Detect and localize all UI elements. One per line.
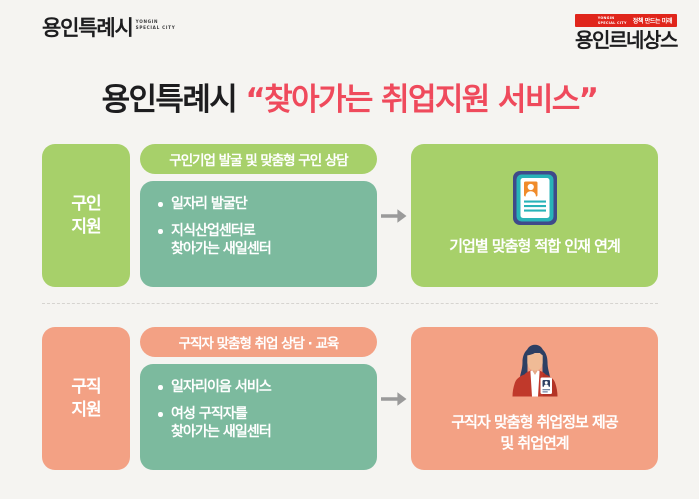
bullet-dot-icon xyxy=(158,202,163,207)
category-label-job-offer-line1: 구인 xyxy=(71,193,100,216)
bullet-panel-job-seeker: 일자리이음 서비스 여성 구직자를 찾아가는 새일센터 xyxy=(140,364,377,470)
page-title: 용인특례시 “찾아가는 취업지원 서비스” xyxy=(0,74,699,119)
bullet-list-job-seeker: 일자리이음 서비스 여성 구직자를 찾아가는 새일센터 xyxy=(158,378,377,442)
result-box-job-offer: 기업별 맞춤형 적합 인재 연계 xyxy=(411,144,658,287)
bullet-dot-icon xyxy=(158,385,163,390)
page-title-quoted: “찾아가는 취업지원 서비스” xyxy=(245,82,597,118)
bullet-list-job-offer: 일자리 발굴단 지식산업센터로 찾아가는 새일센터 xyxy=(158,195,377,259)
middle-column-job-seeker: 구직자 맞춤형 취업 상담 · 교육 일자리이음 서비스 여성 구직자를 찾아가… xyxy=(140,327,377,470)
bullet-item: 일자리이음 서비스 xyxy=(158,378,377,396)
renaissance-wordmark: 용인르네상스 xyxy=(575,30,677,50)
yongin-renaissance-logo: YONGIN SPECIAL CITY 정책 만드는 미래 용인르네상스 xyxy=(575,14,677,50)
arrow-right-icon xyxy=(381,391,407,407)
bullet-panel-job-offer: 일자리 발굴단 지식산업센터로 찾아가는 새일센터 xyxy=(140,181,377,287)
logo-left-subtext-line2: SPECIAL CITY xyxy=(136,25,176,31)
renaissance-banner: YONGIN SPECIAL CITY 정책 만드는 미래 xyxy=(575,14,677,27)
result-label-job-offer: 기업별 맞춤형 적합 인재 연계 xyxy=(449,236,620,256)
logo-left-subtext: YONGIN SPECIAL CITY xyxy=(136,19,176,32)
arrow-right-icon xyxy=(381,208,407,224)
row-job-seeker-support: 구직 지원 구직자 맞춤형 취업 상담 · 교육 일자리이음 서비스 여성 구직… xyxy=(42,327,658,470)
result-label-job-seeker-line2: 및 취업연계 xyxy=(451,433,617,453)
bullet-text: 여성 구직자를 xyxy=(171,406,247,422)
category-label-job-offer-line2: 지원 xyxy=(71,216,100,239)
female-jobseeker-icon xyxy=(504,340,566,402)
page-title-plain: 용인특례시 xyxy=(102,82,237,118)
result-label-job-seeker-line1: 구직자 맞춤형 취업정보 제공 xyxy=(451,412,617,432)
yongin-special-city-logo: 용인특례시 YONGIN SPECIAL CITY xyxy=(42,18,175,39)
renaissance-banner-smalltext: YONGIN SPECIAL CITY xyxy=(598,16,627,25)
arrow-job-seeker xyxy=(377,327,411,470)
bullet-dot-icon xyxy=(158,412,163,417)
pill-job-seeker: 구직자 맞춤형 취업 상담 · 교육 xyxy=(140,327,377,357)
bullet-dot-icon xyxy=(158,229,163,234)
category-label-job-seeker-line1: 구직 xyxy=(71,376,100,399)
renaissance-banner-slogan: 정책 만드는 미래 xyxy=(633,16,672,25)
bullet-text-cont: 찾아가는 새일센터 xyxy=(171,241,271,257)
resume-card-icon xyxy=(512,170,558,226)
page-header: 용인특례시 YONGIN SPECIAL CITY YONGIN SPECIAL… xyxy=(0,0,699,66)
bullet-item: 지식산업센터로 찾아가는 새일센터 xyxy=(158,222,377,258)
bullet-text-cont: 찾아가는 새일센터 xyxy=(171,424,271,440)
logo-left-text: 용인특례시 xyxy=(42,16,133,40)
category-label-job-seeker: 구직 지원 xyxy=(42,327,130,470)
logo-left-wordmark: 용인특례시 xyxy=(42,18,133,39)
infographic-page: 용인특례시 YONGIN SPECIAL CITY YONGIN SPECIAL… xyxy=(0,0,699,499)
arrow-job-offer xyxy=(377,144,411,287)
pill-job-offer: 구인기업 발굴 및 맞춤형 구인 상담 xyxy=(140,144,377,174)
renaissance-banner-smalltext-line2: SPECIAL CITY xyxy=(598,21,627,26)
middle-column-job-offer: 구인기업 발굴 및 맞춤형 구인 상담 일자리 발굴단 지식산업센터로 찾아가는… xyxy=(140,144,377,287)
row-job-offer-support: 구인 지원 구인기업 발굴 및 맞춤형 구인 상담 일자리 발굴단 지식산업센터… xyxy=(42,144,658,287)
bullet-item: 여성 구직자를 찾아가는 새일센터 xyxy=(158,405,377,441)
row-divider xyxy=(42,303,658,304)
result-label-job-seeker: 구직자 맞춤형 취업정보 제공 및 취업연계 xyxy=(451,412,617,453)
category-label-job-seeker-line2: 지원 xyxy=(71,399,100,422)
bullet-text: 지식산업센터로 xyxy=(171,223,255,239)
bullet-text: 일자리이음 서비스 xyxy=(171,379,271,395)
result-box-job-seeker: 구직자 맞춤형 취업정보 제공 및 취업연계 xyxy=(411,327,658,470)
category-label-job-offer: 구인 지원 xyxy=(42,144,130,287)
bullet-item: 일자리 발굴단 xyxy=(158,195,377,213)
bullet-text: 일자리 발굴단 xyxy=(171,196,247,212)
